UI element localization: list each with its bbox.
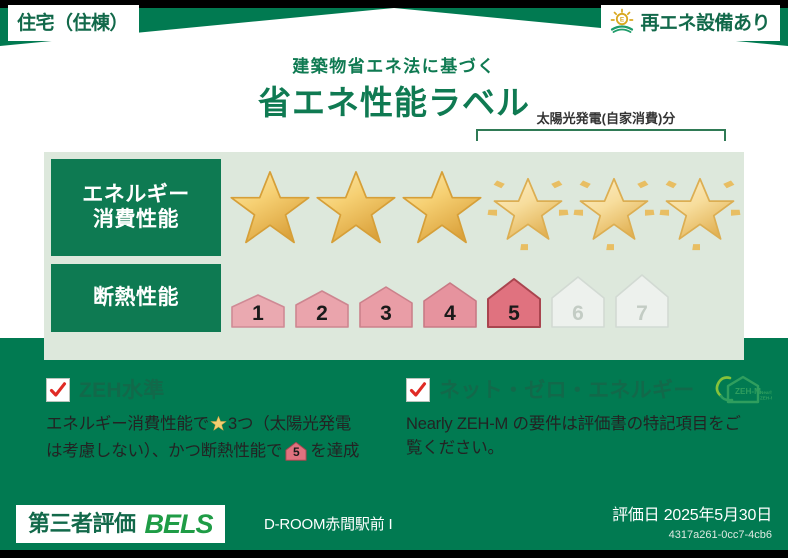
evaluation-id: 4317a261-0cc7-4cb6: [669, 530, 772, 541]
svg-text:E: E: [620, 16, 625, 23]
desc-part-2: は考慮しない）、かつ断熱性能で: [46, 442, 282, 460]
solar-bracket: [476, 129, 726, 141]
desc-star-count: 3つ（太陽光発電: [228, 415, 351, 433]
insulation-level-house: 3: [355, 286, 417, 328]
bottom-border: [0, 550, 788, 558]
insulation-level-house-inactive: 7: [611, 274, 673, 328]
footer-bar: 第三者評価 BELS D-ROOM赤間駅前 I 評価日 2025年5月30日 4…: [0, 498, 788, 550]
insulation-performance-label: 断熱性能: [51, 264, 221, 332]
insulation-level-house: 4: [419, 282, 481, 328]
insulation-level-number: 7: [611, 303, 673, 324]
criteria-section: ZEH水準 エネルギー消費性能で3つ（太陽光発電は考慮しない）、かつ断熱性能で5…: [0, 376, 788, 469]
insulation-level-number: 1: [227, 303, 289, 324]
star-filled: [313, 165, 399, 251]
energy-label-line2: 消費性能: [93, 208, 179, 233]
star-solar: [485, 165, 571, 251]
svg-text:ZEH-M: ZEH-M: [735, 387, 761, 396]
bels-certification-badge: 第三者評価 BELS: [16, 505, 225, 543]
evaluation-date: 評価日 2025年5月30日: [612, 508, 772, 524]
insulation-label-text: 断熱性能: [93, 286, 179, 311]
housing-type-label: 住宅（住棟）: [17, 14, 128, 33]
insulation-level-house: 2: [291, 290, 353, 328]
solar-sun-icon: E: [609, 8, 635, 39]
energy-performance-label: エネルギー 消費性能: [51, 159, 221, 256]
performance-panel: エネルギー 消費性能 太陽光発電(自家消費)分: [44, 152, 744, 360]
housing-type-badge: 住宅（住棟）: [8, 5, 139, 41]
energy-stars-area: 太陽光発電(自家消費)分: [221, 159, 737, 256]
inline-house-number: 5: [285, 446, 307, 458]
criterion-header: ネット・ゼロ・エネルギー ZEH-M Nearly ZEH-M: [406, 376, 748, 404]
star-solar: [657, 165, 743, 251]
insulation-level-number: 5: [483, 303, 545, 324]
criterion-header: ZEH水準: [46, 376, 380, 404]
checkbox-checked-icon: [406, 378, 430, 402]
desc-part-3: を達成: [310, 442, 359, 460]
zeh-m-logo: ZEH-M Nearly ZEH-M: [710, 374, 772, 406]
bels-en-label: BELS: [145, 511, 213, 538]
insulation-level-number: 3: [355, 303, 417, 324]
renewable-energy-label: 再エネ設備あり: [640, 14, 770, 33]
insulation-level-number: 2: [291, 303, 353, 324]
svg-text:Nearly: Nearly: [760, 390, 772, 395]
svg-text:ZEH-M: ZEH-M: [760, 396, 772, 401]
bels-jp-label: 第三者評価: [28, 513, 136, 535]
renewable-energy-badge: E 再エネ設備あり: [601, 5, 780, 41]
insulation-level-house: 1: [227, 294, 289, 328]
star-filled: [399, 165, 485, 251]
building-name: D-ROOM赤間駅前 I: [264, 517, 392, 532]
insulation-level-house-achieved: 5: [483, 278, 545, 328]
insulation-level-scale: 1 2 3: [221, 264, 737, 332]
insulation-level-number: 4: [419, 303, 481, 324]
criterion-title: ネット・ゼロ・エネルギー: [439, 380, 695, 401]
energy-label-line1: エネルギー: [82, 183, 190, 208]
criterion-description: エネルギー消費性能で3つ（太陽光発電は考慮しない）、かつ断熱性能で5を達成: [46, 413, 380, 469]
criterion-title: ZEH水準: [79, 380, 165, 401]
label-subtitle: 建築物省エネ法に基づく: [0, 58, 788, 75]
insulation-level-house-inactive: 6: [547, 276, 609, 328]
star-filled: [227, 165, 313, 251]
energy-performance-row: エネルギー 消費性能 太陽光発電(自家消費)分: [51, 159, 737, 256]
criterion-zeh-standard: ZEH水準 エネルギー消費性能で3つ（太陽光発電は考慮しない）、かつ断熱性能で5…: [0, 376, 394, 469]
bels-energy-label: 住宅（住棟） E 再エネ設備あり 建築物省エネ法に基づく 省エネ性能ラベル: [0, 0, 788, 558]
insulation-level-number: 6: [547, 303, 609, 324]
inline-star-icon: [210, 415, 227, 440]
insulation-performance-row: 断熱性能 1 2: [51, 264, 737, 332]
desc-part-1: エネルギー消費性能で: [46, 415, 209, 433]
insulation-levels-area: 1 2 3: [221, 264, 737, 332]
criterion-net-zero-energy: ネット・ゼロ・エネルギー ZEH-M Nearly ZEH-M Nearly Z…: [394, 376, 788, 469]
star-solar: [571, 165, 657, 251]
solar-annotation-text: 太陽光発電(自家消費)分: [476, 112, 736, 125]
inline-house-icon: 5: [285, 442, 307, 469]
criterion-description: Nearly ZEH-M の要件は評価書の特記項目をご覧ください。: [406, 413, 748, 461]
star-rating: [221, 159, 737, 256]
checkbox-checked-icon: [46, 378, 70, 402]
label-headings: 建築物省エネ法に基づく 省エネ性能ラベル: [0, 58, 788, 119]
